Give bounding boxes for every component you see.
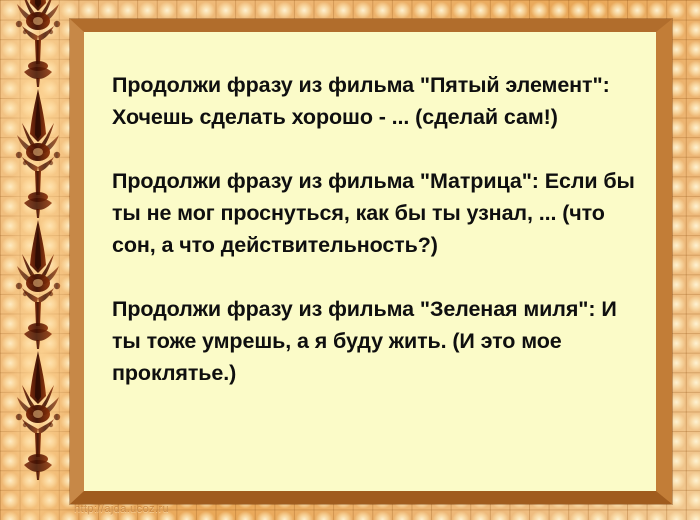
quiz-text-block: Продолжи фразу из фильма "Пятый элемент"… (112, 69, 640, 389)
fleur-de-lis-ornament-icon (0, 349, 74, 480)
decorative-card-page: Продолжи фразу из фильма "Пятый элемент"… (0, 0, 700, 520)
fleur-de-lis-ornament-icon (0, 87, 74, 218)
fleur-de-lis-ornament-icon (0, 218, 74, 349)
ornament-column (0, 0, 74, 520)
quiz-paragraph-matrix: Продолжи фразу из фильма "Матрица": Если… (112, 165, 640, 261)
fleur-de-lis-ornament-icon (0, 0, 74, 87)
site-url-watermark: http://ajda.ucoz.ru (74, 503, 169, 515)
text-panel: Продолжи фразу из фильма "Пятый элемент"… (84, 32, 656, 491)
quiz-paragraph-green-mile: Продолжи фразу из фильма "Зеленая миля":… (112, 293, 640, 389)
quiz-paragraph-fifth-element: Продолжи фразу из фильма "Пятый элемент"… (112, 69, 640, 133)
picture-frame: Продолжи фразу из фильма "Пятый элемент"… (70, 19, 672, 504)
